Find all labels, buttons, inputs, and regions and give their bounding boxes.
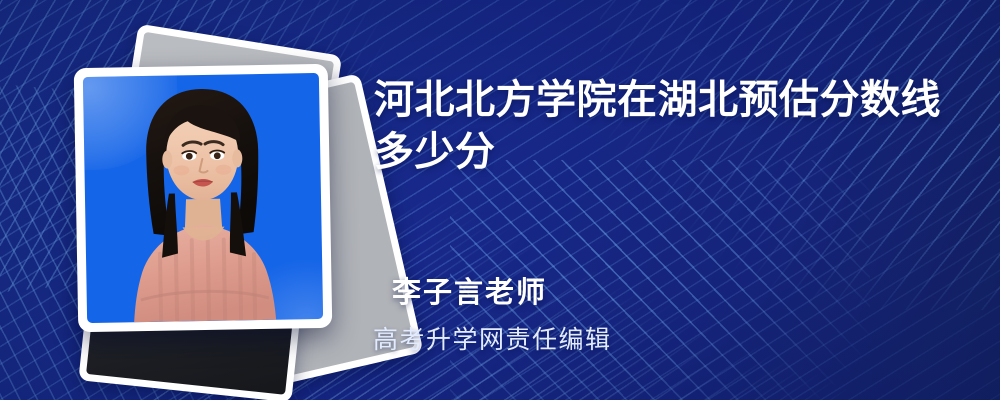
author-name: 李子言老师 [392, 269, 547, 311]
portrait-illustration [83, 73, 323, 323]
photo-card-stack [48, 34, 368, 364]
article-title: 河北北方学院在湖北预估分数线多少分 [374, 74, 964, 178]
author-photo [83, 73, 323, 323]
author-photo-card [74, 64, 333, 332]
article-cover-banner: 河北北方学院在湖北预估分数线多少分 李子言老师 高考升学网责任编辑 [0, 0, 1000, 400]
author-role: 高考升学网责任编辑 [373, 320, 612, 356]
